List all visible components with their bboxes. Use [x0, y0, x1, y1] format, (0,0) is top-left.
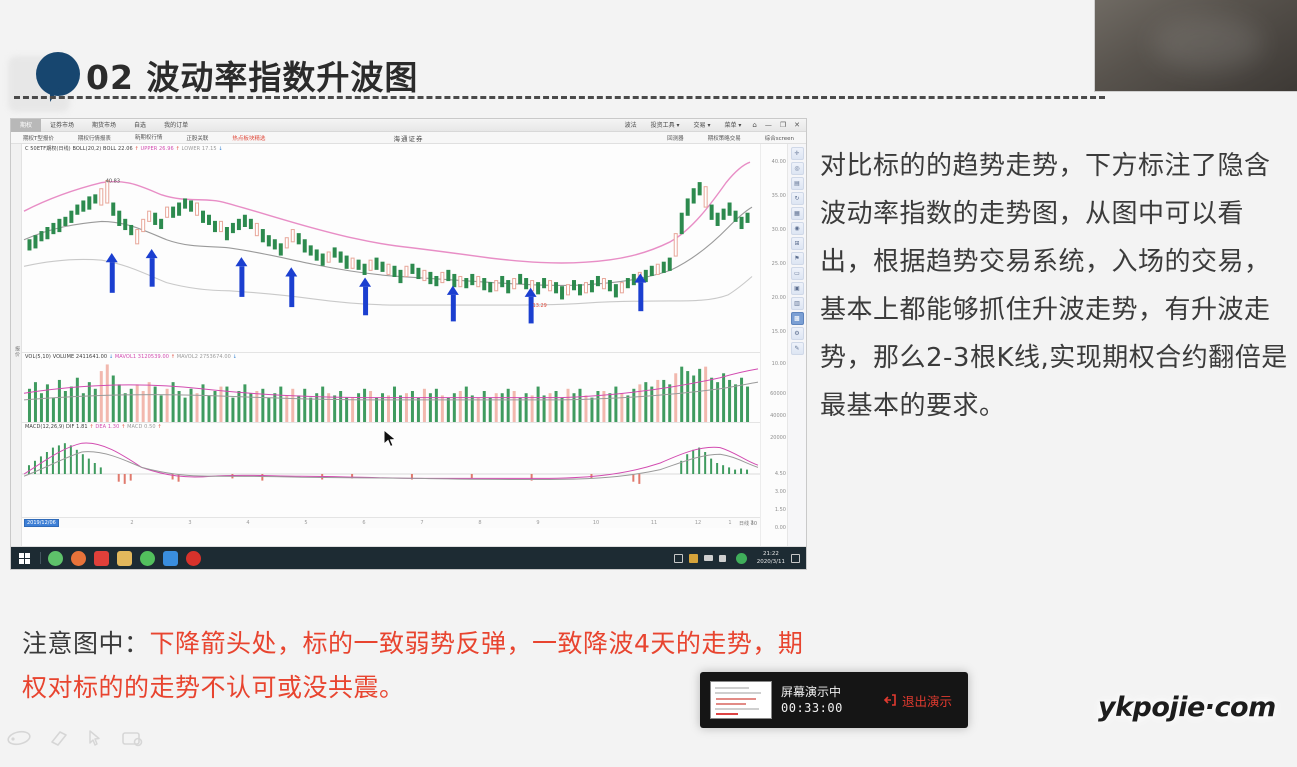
slide-header: 02 波动率指数升波图 — [0, 18, 810, 103]
taskbar-divider — [40, 552, 41, 564]
taskbar-app-mail[interactable] — [163, 551, 178, 566]
date-tick-10: 10 — [593, 520, 599, 526]
taskbar-app-video[interactable] — [94, 551, 109, 566]
taskbar-app-browser[interactable] — [71, 551, 86, 566]
kline-chart-pane[interactable]: 13.29 40.83 — [22, 152, 760, 352]
kline-chart-svg: 13.29 40.83 — [22, 152, 760, 352]
date-tick-12: 12 — [695, 520, 701, 526]
app-menu-item-wave[interactable]: 波法 — [618, 119, 644, 132]
tool-magnifier-icon[interactable]: ◎ — [791, 162, 804, 175]
start-button-icon[interactable] — [11, 547, 37, 569]
kline-indicator-header: C 50ETF期权(日线) BOLL(20,2) BOLL 22.06 ↑ UP… — [22, 144, 760, 152]
high-label: 40.83 — [106, 179, 120, 185]
tray-guard-icon[interactable] — [736, 553, 747, 564]
trading-app-window[interactable]: 期权 证券市场 期货市场 自选 我的订单 波法 投资工具 ▾ 交易 ▾ 菜单 ▾… — [10, 118, 807, 570]
volume-axis-label-60000: 60000 — [770, 391, 786, 397]
windows-logo-icon — [19, 553, 30, 564]
action-center-icon[interactable] — [791, 554, 800, 563]
tool-alert-icon[interactable]: ◉ — [791, 222, 804, 235]
taskbar-app-wechat-work[interactable] — [48, 551, 63, 566]
app-menu-item-orders[interactable]: 我的订单 — [155, 119, 197, 132]
app-brand-label: 海通证券 — [394, 133, 424, 143]
selected-date-label: 2019/12/06 — [24, 519, 59, 527]
taskbar-tray[interactable]: 21:22 2020/3/11 — [674, 550, 806, 567]
date-tick-1b: 1 — [728, 520, 731, 526]
tool-pen-icon[interactable]: ✎ — [791, 342, 804, 355]
taskbar-clock-date: 2020/3/11 — [757, 558, 785, 566]
macd-axis-label-150: 1.50 — [775, 507, 786, 513]
exit-share-label: 退出演示 — [902, 691, 952, 710]
app-menu-item-invest-tools[interactable]: 投资工具 ▾ — [644, 119, 687, 132]
windows-taskbar[interactable]: 21:22 2020/3/11 — [11, 547, 806, 569]
taskbar-clock-time: 21:22 — [757, 550, 785, 558]
exit-icon — [883, 693, 897, 707]
price-axis-label-35: 35.00 — [772, 193, 786, 199]
app-menu-item-options[interactable]: 期权 — [11, 119, 41, 132]
app-menu-item-trade[interactable]: 交易 ▾ — [687, 119, 718, 132]
tray-network-icon[interactable] — [704, 555, 713, 561]
submenu-item-backtest[interactable]: 回测器 — [655, 134, 696, 142]
tool-settings-icon[interactable]: ⚙ — [791, 327, 804, 340]
tray-chevron-icon[interactable] — [674, 554, 683, 563]
price-axis-label-20: 20.00 — [772, 295, 786, 301]
screenshot-icon[interactable] — [120, 728, 146, 748]
submenu-item-t-quote[interactable]: 期权T型报价 — [11, 134, 66, 142]
tool-layers-icon[interactable]: ▣ — [791, 282, 804, 295]
note-label: 注意图中： — [22, 629, 150, 658]
price-axis-column: 40.00 35.00 30.00 25.00 20.00 15.00 10.0… — [760, 144, 806, 551]
slide-paragraph: 对比标的的趋势走势，下方标注了隐含波动率指数的走势图，从图中可以看出，根据趋势交… — [820, 142, 1288, 430]
price-axis-label-10: 10.00 — [772, 361, 786, 367]
eraser-icon[interactable] — [46, 728, 70, 748]
volume-chart-svg — [22, 360, 760, 422]
date-axis[interactable]: 2019/12/06 2 3 4 5 6 7 8 9 10 11 12 1 2 … — [22, 517, 760, 528]
date-tick-9: 9 — [536, 520, 539, 526]
submenu-item-strategy-trade[interactable]: 期权策略交易 — [696, 134, 753, 142]
taskbar-app-wechat[interactable] — [140, 551, 155, 566]
volume-indicator-header: VOL(5,10) VOLUME 2411641.00 ↓ MAVOL1 312… — [22, 352, 760, 360]
macd-axis-label-450: 4.50 — [775, 471, 786, 477]
price-axis-label-15: 15.00 — [772, 329, 786, 335]
volume-chart-pane[interactable] — [22, 360, 760, 422]
app-menu-item-menu[interactable]: 菜单 ▾ — [717, 119, 748, 132]
screen-share-bar[interactable]: 屏幕演示中 00:33:00 退出演示 — [700, 672, 968, 728]
tool-refresh-icon[interactable]: ↻ — [791, 192, 804, 205]
price-axis-label-30: 30.00 — [772, 227, 786, 233]
rail-item-quote[interactable]: 报价 — [14, 346, 21, 357]
app-maximize-icon[interactable]: ❐ — [776, 121, 790, 129]
site-watermark: ykpojie·com — [1098, 692, 1276, 723]
date-tick-11: 11 — [651, 520, 657, 526]
macd-axis-label-000: 0.00 — [775, 525, 786, 531]
submenu-item-new-quote[interactable]: 新ุ期权行情 — [123, 133, 175, 142]
share-text-group: 屏幕演示中 00:33:00 — [781, 684, 843, 716]
date-tick-2: 2 — [130, 520, 133, 526]
share-preview-thumbnail[interactable] — [710, 681, 772, 719]
date-tick-3: 3 — [188, 520, 191, 526]
slide-note: 注意图中：下降箭头处，标的一致弱势反弹，一致降波4天的走势，期权对标的的走势不认… — [22, 622, 812, 710]
app-menu-item-watchlist[interactable]: 自选 — [125, 119, 155, 132]
date-tick-4: 4 — [246, 520, 249, 526]
tool-compare-icon[interactable]: ⊞ — [791, 237, 804, 250]
app-menu-bar[interactable]: 期权 证券市场 期货市场 自选 我的订单 波法 投资工具 ▾ 交易 ▾ 菜单 ▾… — [11, 119, 806, 132]
price-axis-label-25: 25.00 — [772, 261, 786, 267]
share-status-label: 屏幕演示中 — [781, 684, 843, 700]
pen-icon[interactable] — [6, 728, 32, 748]
webcam-thumbnail — [1094, 0, 1297, 92]
submenu-item-hot-sectors[interactable]: 热点板块精选 — [220, 134, 277, 142]
tool-flag-icon[interactable]: ⚑ — [791, 252, 804, 265]
submenu-item-underlying-link[interactable]: 正股关联 — [174, 134, 220, 142]
slide-page: 02 波动率指数升波图 期权 证券市场 期货市场 自选 我的订单 波法 投资工具… — [0, 0, 1297, 767]
app-home-icon[interactable]: ⌂ — [748, 121, 760, 129]
date-tick-5: 5 — [304, 520, 307, 526]
tool-grid-icon[interactable]: ▤ — [791, 177, 804, 190]
annotation-toolbar[interactable] — [6, 728, 146, 748]
header-bullet-tail-icon — [50, 88, 59, 102]
mouse-cursor-icon — [383, 429, 397, 449]
chart-tool-column[interactable]: ✛ ◎ ▤ ↻ ▦ ◉ ⊞ ⚑ ▭ ▣ ▥ ▩ ⚙ ✎ — [787, 144, 806, 551]
app-menu-item-futures[interactable]: 期货市场 — [83, 119, 125, 132]
app-menu-right-group[interactable]: 波法 投资工具 ▾ 交易 ▾ 菜单 ▾ ⌂ — ❐ ✕ — [618, 119, 804, 132]
volume-axis-label-40000: 40000 — [770, 413, 786, 419]
webcam-glow — [1152, 16, 1263, 71]
price-axis-label-40: 40.00 — [772, 159, 786, 165]
submenu-item-quote-report[interactable]: 期权行情报表 — [66, 134, 123, 142]
taskbar-app-recorder[interactable] — [186, 551, 201, 566]
date-axis-right-label: 日线 30 — [739, 520, 757, 527]
header-divider — [14, 96, 1105, 99]
macd-axis-label-300: 3.00 — [775, 489, 786, 495]
tool-crosshair-icon[interactable]: ✛ — [791, 147, 804, 160]
submenu-item-composite[interactable]: 综合screen — [753, 134, 806, 142]
tray-volume-icon[interactable] — [719, 555, 726, 562]
taskbar-app-explorer[interactable] — [117, 551, 132, 566]
app-minimize-icon[interactable]: — — [761, 121, 776, 129]
price-tag-label: 13.29 — [533, 303, 547, 309]
tool-table-icon[interactable]: ▥ — [791, 297, 804, 310]
tool-chart-icon[interactable]: ▦ — [791, 207, 804, 220]
app-menu-item-securities[interactable]: 证券市场 — [41, 119, 83, 132]
tray-shield-icon[interactable] — [689, 554, 698, 563]
app-left-rail[interactable]: 报价 研判 分析 选股 服务 — [11, 144, 22, 551]
pointer-icon[interactable] — [84, 728, 106, 748]
tool-selected-icon[interactable]: ▩ — [791, 312, 804, 325]
tool-note-icon[interactable]: ▭ — [791, 267, 804, 280]
app-body: 报价 研判 分析 选股 服务 C 50ETF期权(日线) BOLL(20,2) … — [11, 144, 806, 551]
share-timer: 00:33:00 — [781, 700, 843, 716]
taskbar-clock[interactable]: 21:22 2020/3/11 — [757, 550, 785, 567]
page-title: 02 波动率指数升波图 — [86, 51, 418, 99]
date-tick-7: 7 — [420, 520, 423, 526]
chart-column[interactable]: C 50ETF期权(日线) BOLL(20,2) BOLL 22.06 ↑ UP… — [22, 144, 760, 551]
exit-share-button[interactable]: 退出演示 — [883, 691, 952, 710]
date-tick-6: 6 — [362, 520, 365, 526]
app-submenu-bar[interactable]: 期权T型报价 期权行情报表 新ุ期权行情 正股关联 热点板块精选 海通证券 回测… — [11, 132, 806, 144]
date-tick-8: 8 — [478, 520, 481, 526]
app-close-icon[interactable]: ✕ — [790, 121, 804, 129]
volume-axis-label-20000: 20000 — [770, 435, 786, 441]
